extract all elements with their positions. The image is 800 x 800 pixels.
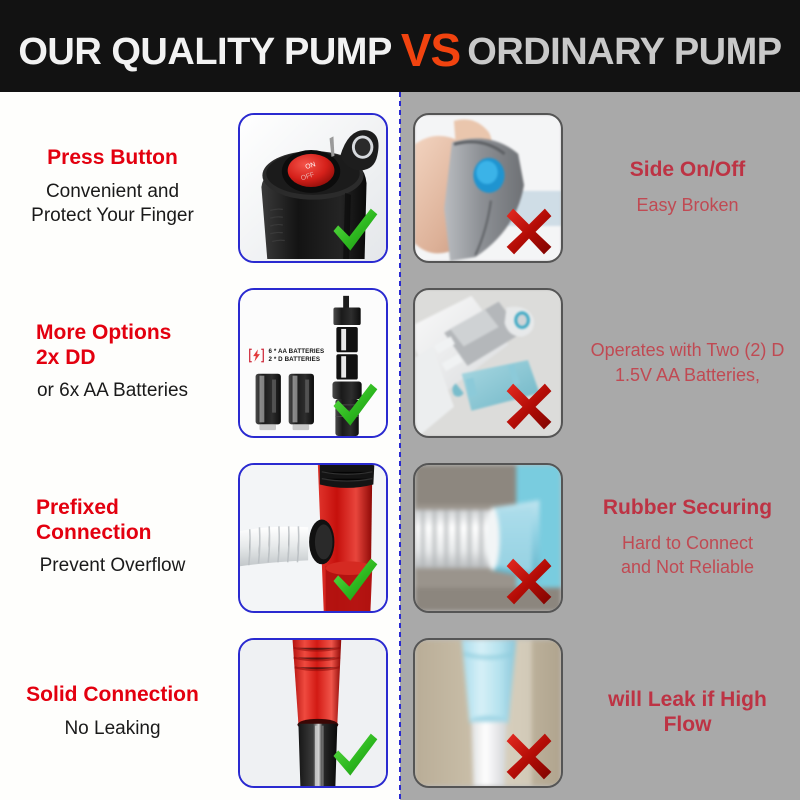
- right-row-2-photo: [413, 288, 563, 438]
- left-row-1-subtext: Convenient and Protect Your Finger: [14, 180, 211, 229]
- right-row-4-text: will Leak if High Flow: [575, 688, 800, 738]
- green-check-icon: [326, 378, 382, 434]
- left-row-1-photo-cell: ON OFF: [225, 113, 400, 263]
- left-row-3-text: Prefixed Connection Prevent Overflow: [0, 496, 225, 579]
- left-row-more-options: More Options 2x DD or 6x AA Batteries: [0, 275, 400, 450]
- left-row-1-photo: ON OFF: [238, 113, 388, 263]
- header-vs-label: VS: [401, 23, 460, 77]
- right-row-1-heading: Side On/Off: [589, 158, 786, 183]
- right-row-3-heading: Rubber Securing: [589, 496, 786, 521]
- right-row-battery: Operates with Two (2) D 1.5V AA Batterie…: [400, 275, 800, 450]
- right-row-4-photo: [413, 638, 563, 788]
- right-row-2-text: Operates with Two (2) D 1.5V AA Batterie…: [575, 338, 800, 387]
- right-row-3-photo: [413, 463, 563, 613]
- header-title-group: OUR QUALITY PUMP VS ORDINARY PUMP: [18, 21, 781, 75]
- header-ordinary-label: ORDINARY PUMP: [467, 31, 781, 74]
- left-row-2-photo: 6 * AA BATTERIES 2 * D BATTERIES: [238, 288, 388, 438]
- left-row-prefixed-connection: Prefixed Connection Prevent Overflow: [0, 450, 400, 625]
- right-row-1-photo-cell: [400, 113, 575, 263]
- right-row-2-photo-cell: [400, 288, 575, 438]
- left-row-press-button: Press Button Convenient and Protect Your…: [0, 100, 400, 275]
- left-row-4-subtext: No Leaking: [14, 717, 211, 742]
- red-cross-icon: [501, 203, 557, 259]
- left-row-2-subtext: or 6x AA Batteries: [14, 379, 211, 404]
- battery-spec-callout: 6 * AA BATTERIES 2 * D BATTERIES: [248, 348, 325, 365]
- comparison-body: Press Button Convenient and Protect Your…: [0, 92, 800, 800]
- infographic-page: OUR QUALITY PUMP VS ORDINARY PUMP Press …: [0, 0, 800, 800]
- green-check-icon: [326, 203, 382, 259]
- right-row-1-text: Side On/Off Easy Broken: [575, 158, 800, 217]
- right-row-3-subtext: Hard to Connect and Not Reliable: [589, 531, 786, 580]
- left-row-1-heading: Press Button: [14, 146, 211, 171]
- left-row-1-text: Press Button Convenient and Protect Your…: [0, 146, 225, 229]
- red-cross-icon: [501, 378, 557, 434]
- left-row-3-subtext: Prevent Overflow: [14, 554, 211, 579]
- green-check-icon: [326, 728, 382, 784]
- green-check-icon: [326, 553, 382, 609]
- red-cross-icon: [501, 728, 557, 784]
- left-row-3-photo: [238, 463, 388, 613]
- left-row-2-heading: More Options 2x DD: [14, 321, 211, 371]
- right-row-side-onoff: Side On/Off Easy Broken: [400, 100, 800, 275]
- right-row-rubber-securing: Rubber Securing Hard to Connect and Not …: [400, 450, 800, 625]
- right-column-ordinary-pump: Side On/Off Easy Broken: [400, 92, 800, 800]
- left-row-2-text: More Options 2x DD or 6x AA Batteries: [0, 321, 225, 404]
- header-ours-label: OUR QUALITY PUMP: [18, 31, 391, 74]
- right-row-1-subtext: Easy Broken: [589, 193, 786, 217]
- left-row-4-photo: [238, 638, 388, 788]
- left-row-4-heading: Solid Connection: [14, 683, 211, 708]
- column-divider: [399, 92, 401, 800]
- right-row-3-text: Rubber Securing Hard to Connect and Not …: [575, 496, 800, 579]
- red-cross-icon: [501, 553, 557, 609]
- right-row-4-heading: will Leak if High Flow: [589, 688, 786, 738]
- right-row-2-subtext: Operates with Two (2) D 1.5V AA Batterie…: [589, 338, 786, 387]
- left-row-4-text: Solid Connection No Leaking: [0, 683, 225, 741]
- right-row-3-photo-cell: [400, 463, 575, 613]
- left-column-our-pump: Press Button Convenient and Protect Your…: [0, 92, 400, 800]
- left-row-solid-connection: Solid Connection No Leaking: [0, 625, 400, 800]
- left-row-4-photo-cell: [225, 638, 400, 788]
- left-row-3-photo-cell: [225, 463, 400, 613]
- right-row-will-leak: will Leak if High Flow: [400, 625, 800, 800]
- right-row-1-photo: [413, 113, 563, 263]
- header-banner: OUR QUALITY PUMP VS ORDINARY PUMP: [0, 0, 800, 92]
- right-row-4-photo-cell: [400, 638, 575, 788]
- battery-spec-text: 6 * AA BATTERIES 2 * D BATTERIES: [269, 348, 325, 365]
- left-row-3-heading: Prefixed Connection: [14, 496, 211, 546]
- lightning-bolt-icon: [248, 348, 265, 363]
- left-row-2-photo-cell: 6 * AA BATTERIES 2 * D BATTERIES: [225, 288, 400, 438]
